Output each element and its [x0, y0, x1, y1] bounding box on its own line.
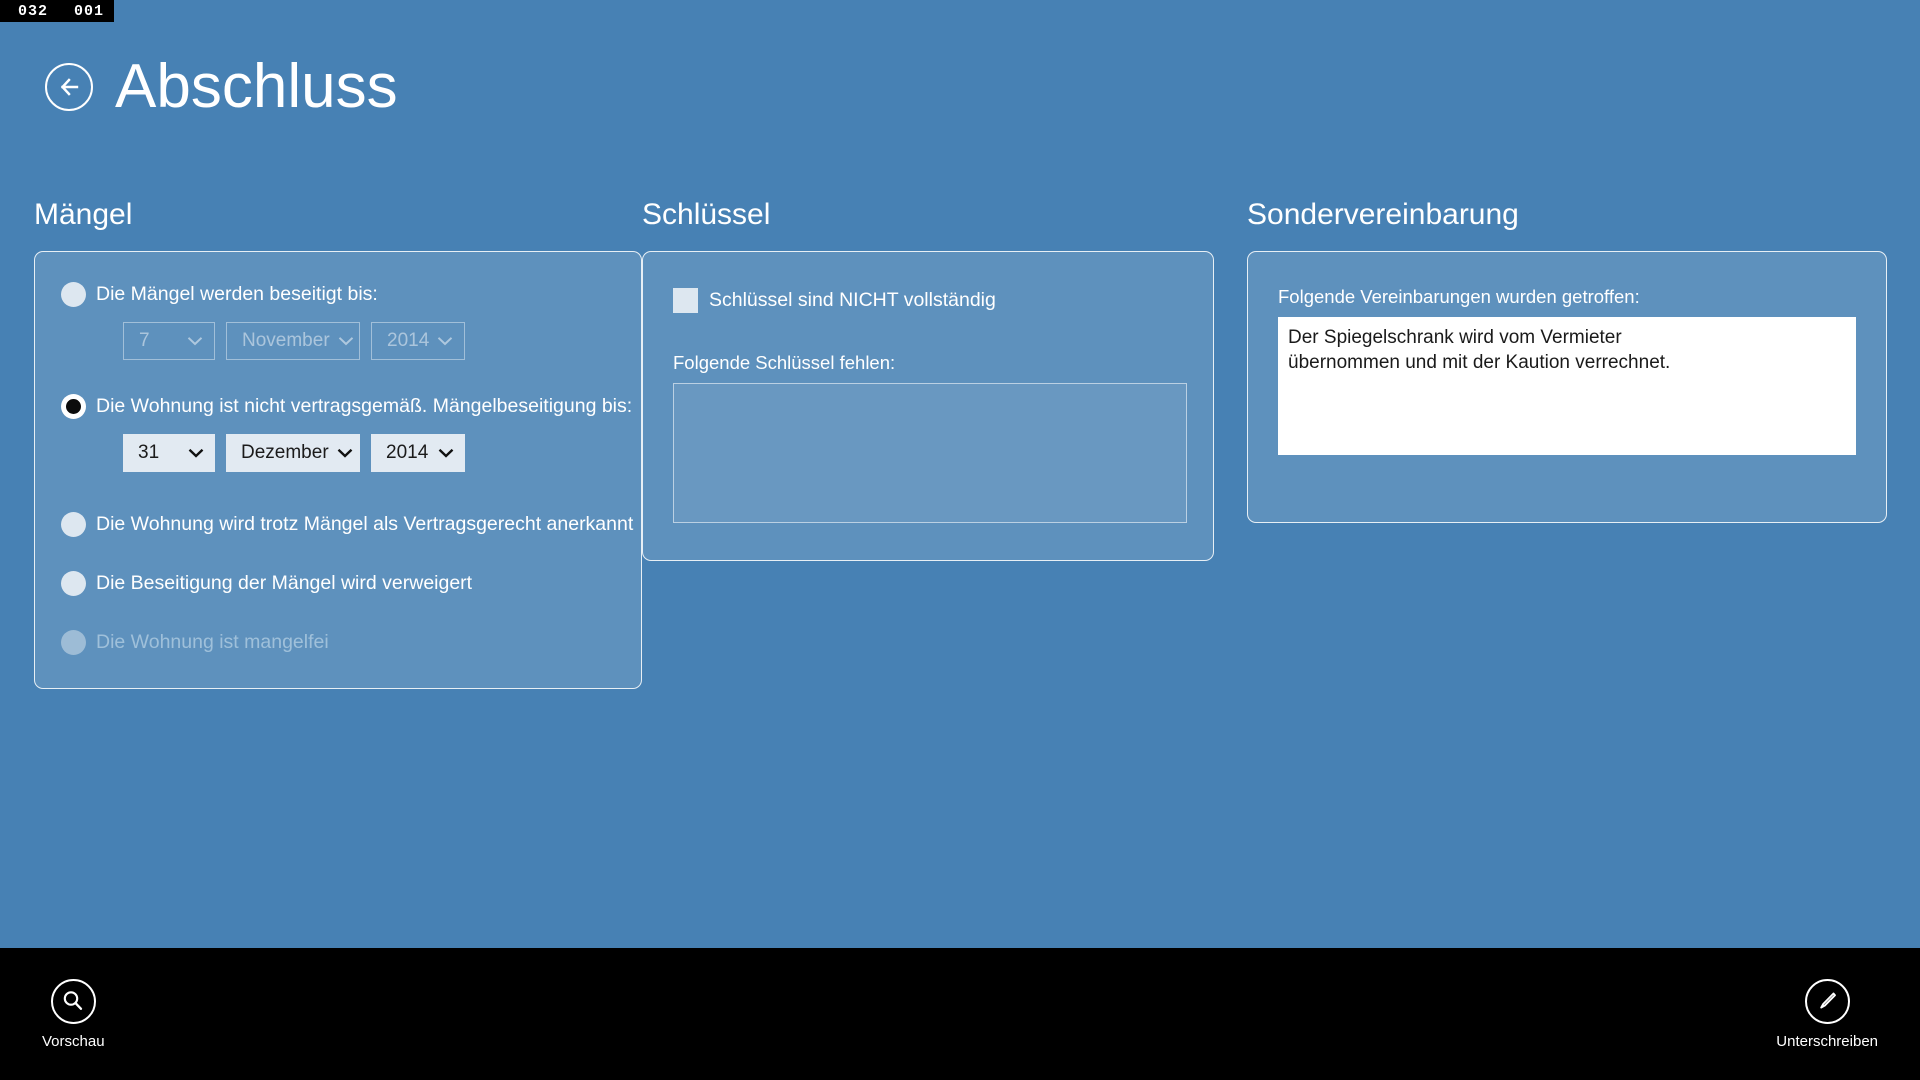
debug-counter-bar: 032 001	[0, 0, 114, 22]
sondervereinbarung-card: Folgende Vereinbarungen wurden getroffen…	[1247, 251, 1887, 523]
preview-button[interactable]: Vorschau	[42, 979, 105, 1050]
chevron-down-icon	[338, 336, 354, 346]
bottom-app-bar: Vorschau Unterschreiben	[0, 948, 1920, 1080]
radio-icon[interactable]	[61, 512, 86, 537]
month-select-option2[interactable]: Dezember	[226, 434, 360, 472]
radio-option-maengel-beseitigt[interactable]: Die Mängel werden beseitigt bis:	[61, 282, 615, 307]
radio-icon-disabled	[61, 630, 86, 655]
schluessel-column: Schlüssel Schlüssel sind NICHT vollständ…	[642, 200, 1214, 561]
chevron-down-icon	[437, 336, 453, 346]
day-select-value: 31	[138, 442, 159, 464]
radio-label: Die Wohnung wird trotz Mängel als Vertra…	[96, 513, 633, 536]
missing-keys-textarea[interactable]	[673, 383, 1187, 523]
radio-option-beseitigung-verweigert[interactable]: Die Beseitigung der Mängel wird verweige…	[61, 571, 615, 596]
radio-label: Die Mängel werden beseitigt bis:	[96, 283, 378, 306]
page-title: Abschluss	[115, 56, 398, 118]
chevron-down-icon	[337, 448, 353, 458]
magnifier-icon	[51, 979, 96, 1024]
maengel-card: Die Mängel werden beseitigt bis: 7 Novem…	[34, 251, 642, 689]
content-columns: Mängel Die Mängel werden beseitigt bis: …	[0, 200, 1920, 689]
day-select-option1[interactable]: 7	[123, 322, 215, 360]
sign-label: Unterschreiben	[1776, 1033, 1878, 1050]
vereinbarungen-textarea[interactable]: Der Spiegelschrank wird vom Vermieter üb…	[1278, 317, 1856, 455]
day-select-value: 7	[139, 330, 150, 352]
checkbox-schluessel-unvollstaendig[interactable]: Schlüssel sind NICHT vollständig	[673, 288, 1183, 313]
radio-option-vertragsgerecht-anerkannt[interactable]: Die Wohnung wird trotz Mängel als Vertra…	[61, 512, 615, 537]
radio-icon-selected[interactable]	[61, 394, 86, 419]
sign-button[interactable]: Unterschreiben	[1776, 979, 1878, 1050]
radio-icon[interactable]	[61, 282, 86, 307]
counter-value-a: 032	[18, 3, 48, 20]
missing-keys-label: Folgende Schlüssel fehlen:	[673, 352, 1183, 374]
page-header: Abschluss	[45, 56, 398, 118]
checkbox-label: Schlüssel sind NICHT vollständig	[709, 289, 996, 312]
radio-option-nicht-vertragsgemaess[interactable]: Die Wohnung ist nicht vertragsgemäß. Män…	[61, 394, 615, 419]
month-select-value: November	[242, 330, 330, 352]
app-root: 032 001 Abschluss Mängel Die Mängel werd…	[0, 0, 1920, 1080]
back-button[interactable]	[45, 63, 93, 111]
schluessel-card: Schlüssel sind NICHT vollständig Folgend…	[642, 251, 1214, 561]
sondervereinbarung-section-title: Sondervereinbarung	[1247, 200, 1887, 230]
month-select-value: Dezember	[241, 442, 329, 464]
chevron-down-icon	[187, 336, 203, 346]
chevron-down-icon	[438, 448, 454, 458]
back-arrow-icon	[56, 74, 82, 100]
date-row-option1: 7 November 2014	[123, 322, 615, 360]
month-select-option1[interactable]: November	[226, 322, 360, 360]
day-select-option2[interactable]: 31	[123, 434, 215, 472]
year-select-value: 2014	[386, 442, 428, 464]
radio-icon[interactable]	[61, 571, 86, 596]
sondervereinbarung-column: Sondervereinbarung Folgende Vereinbarung…	[1247, 200, 1887, 523]
radio-label: Die Wohnung ist mangelfei	[96, 631, 329, 654]
chevron-down-icon	[188, 448, 204, 458]
pencil-icon	[1805, 979, 1850, 1024]
counter-value-b: 001	[74, 3, 104, 20]
radio-label: Die Wohnung ist nicht vertragsgemäß. Män…	[96, 395, 632, 418]
radio-label: Die Beseitigung der Mängel wird verweige…	[96, 572, 472, 595]
year-select-option2[interactable]: 2014	[371, 434, 465, 472]
vereinbarungen-label: Folgende Vereinbarungen wurden getroffen…	[1278, 286, 1856, 308]
maengel-column: Mängel Die Mängel werden beseitigt bis: …	[34, 200, 642, 689]
radio-option-mangelfrei: Die Wohnung ist mangelfei	[61, 630, 615, 655]
date-row-option2: 31 Dezember 2014	[123, 434, 615, 472]
maengel-section-title: Mängel	[34, 200, 642, 230]
preview-label: Vorschau	[42, 1033, 105, 1050]
year-select-option1[interactable]: 2014	[371, 322, 465, 360]
schluessel-section-title: Schlüssel	[642, 200, 1214, 230]
checkbox-icon[interactable]	[673, 288, 698, 313]
year-select-value: 2014	[387, 330, 429, 352]
